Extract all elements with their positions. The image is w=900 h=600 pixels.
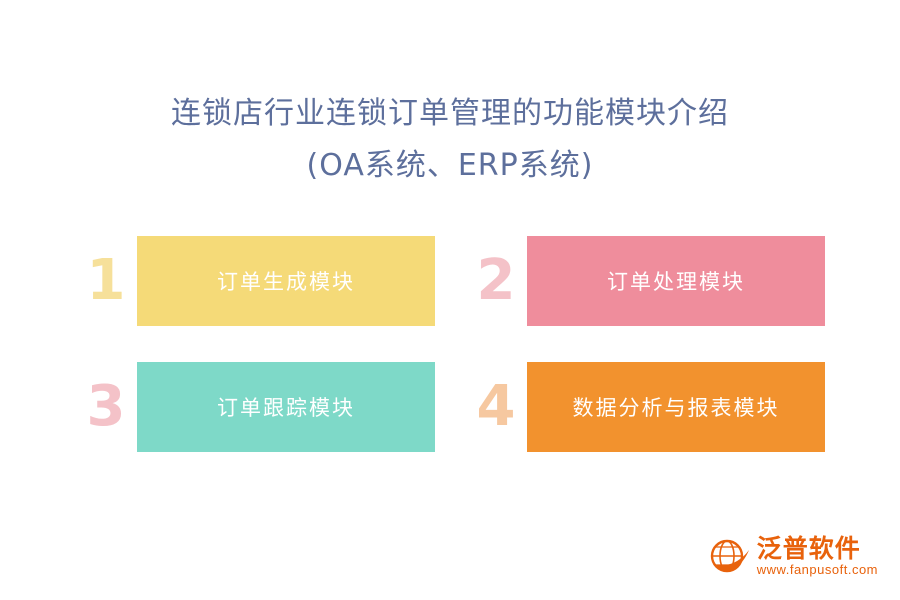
module-label-2: 订单处理模块 <box>607 266 745 296</box>
brand-url: www.fanpusoft.com <box>757 562 878 578</box>
brand-name: 泛普软件 <box>757 535 861 562</box>
module-bar-4[interactable]: 数据分析与报表模块 <box>527 362 825 452</box>
module-label-4: 数据分析与报表模块 <box>573 392 780 422</box>
module-label-1: 订单生成模块 <box>217 266 355 296</box>
module-row-1: 1 订单生成模块 2 订单处理模块 <box>0 236 900 326</box>
page-title-line-1: 连锁店行业连锁订单管理的功能模块介绍 <box>0 88 900 140</box>
module-card-3[interactable]: 3 订单跟踪模块 <box>75 362 435 452</box>
brand-logo[interactable]: 泛普软件 www.fanpusoft.com <box>707 534 878 578</box>
module-bar-1[interactable]: 订单生成模块 <box>137 236 435 326</box>
page-title: 连锁店行业连锁订单管理的功能模块介绍 (OA系统、ERP系统) <box>0 88 900 192</box>
module-number-2: 2 <box>465 236 527 326</box>
module-card-2[interactable]: 2 订单处理模块 <box>465 236 825 326</box>
module-number-3: 3 <box>75 362 137 452</box>
page-title-line-2: (OA系统、ERP系统) <box>0 140 900 192</box>
module-card-4[interactable]: 4 数据分析与报表模块 <box>465 362 825 452</box>
module-number-4: 4 <box>465 362 527 452</box>
module-cards: 1 订单生成模块 2 订单处理模块 3 订单跟踪模块 4 <box>0 236 900 488</box>
module-bar-3[interactable]: 订单跟踪模块 <box>137 362 435 452</box>
module-card-1[interactable]: 1 订单生成模块 <box>75 236 435 326</box>
orange-globe-swoosh-icon <box>707 534 751 578</box>
module-row-2: 3 订单跟踪模块 4 数据分析与报表模块 <box>0 362 900 452</box>
brand-text: 泛普软件 www.fanpusoft.com <box>757 535 878 578</box>
slide-canvas: 连锁店行业连锁订单管理的功能模块介绍 (OA系统、ERP系统) 1 订单生成模块… <box>0 0 900 600</box>
module-label-3: 订单跟踪模块 <box>217 392 355 422</box>
module-number-1: 1 <box>75 236 137 326</box>
module-bar-2[interactable]: 订单处理模块 <box>527 236 825 326</box>
